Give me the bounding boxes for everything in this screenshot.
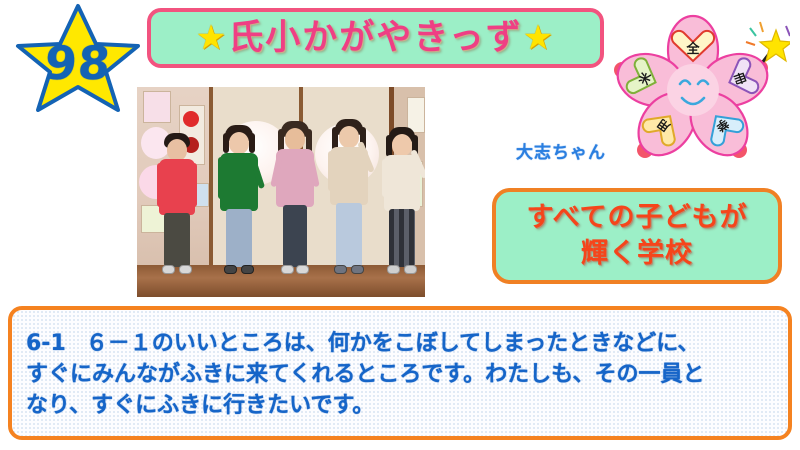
- class-photo: [137, 87, 425, 297]
- caption-line-3: なり、すぐにふきに行きたいです。: [26, 390, 774, 421]
- photo-student-2: [217, 125, 261, 283]
- photo-wall-poster-1: [143, 91, 171, 123]
- slogan-line-2: 輝く学校: [581, 236, 693, 272]
- photo-student-5: [381, 127, 423, 283]
- class-label: 6-1: [26, 331, 66, 356]
- slogan-box: すべての子どもが 輝く学校: [492, 188, 782, 284]
- star-number-badge: 98: [8, 2, 148, 112]
- slogan-line-1: すべての子どもが: [526, 200, 747, 236]
- caption-text-1: ６－１のいいところは、何かをこぼしてしまったときなどに、: [86, 331, 700, 356]
- mascot-name-label: 大志ちゃん: [516, 138, 606, 163]
- caption-line-1: 6-1６－１のいいところは、何かをこぼしてしまったときなどに、: [26, 328, 774, 359]
- caption-line-2: すぐにみんながふきに来てくれるところです。わたしも、その一員と: [26, 359, 774, 390]
- photo-student-1: [155, 133, 199, 283]
- title-text-row: ★氏小かがやきっず★: [196, 21, 556, 56]
- mascot-kanji-top: 全: [685, 41, 700, 57]
- slide-canvas: 98 ★氏小かがやきっず★: [0, 0, 800, 450]
- page-title: 氏小かがやきっず: [228, 18, 523, 58]
- title-right-star-icon: ★: [523, 18, 555, 58]
- mascot-sakura-character: 全 米 冊 用 挙: [600, 8, 790, 158]
- title-left-star-icon: ★: [196, 18, 228, 58]
- caption-box: 6-1６－１のいいところは、何かをこぼしてしまったときなどに、 すぐにみんながふ…: [8, 306, 792, 440]
- photo-student-3: [273, 121, 317, 283]
- mascot-face: [667, 64, 719, 116]
- photo-student-4: [327, 119, 371, 283]
- title-banner: ★氏小かがやきっず★: [147, 8, 604, 68]
- photo-wall-red-dot-1: [183, 111, 199, 127]
- star-number: 98: [4, 8, 152, 118]
